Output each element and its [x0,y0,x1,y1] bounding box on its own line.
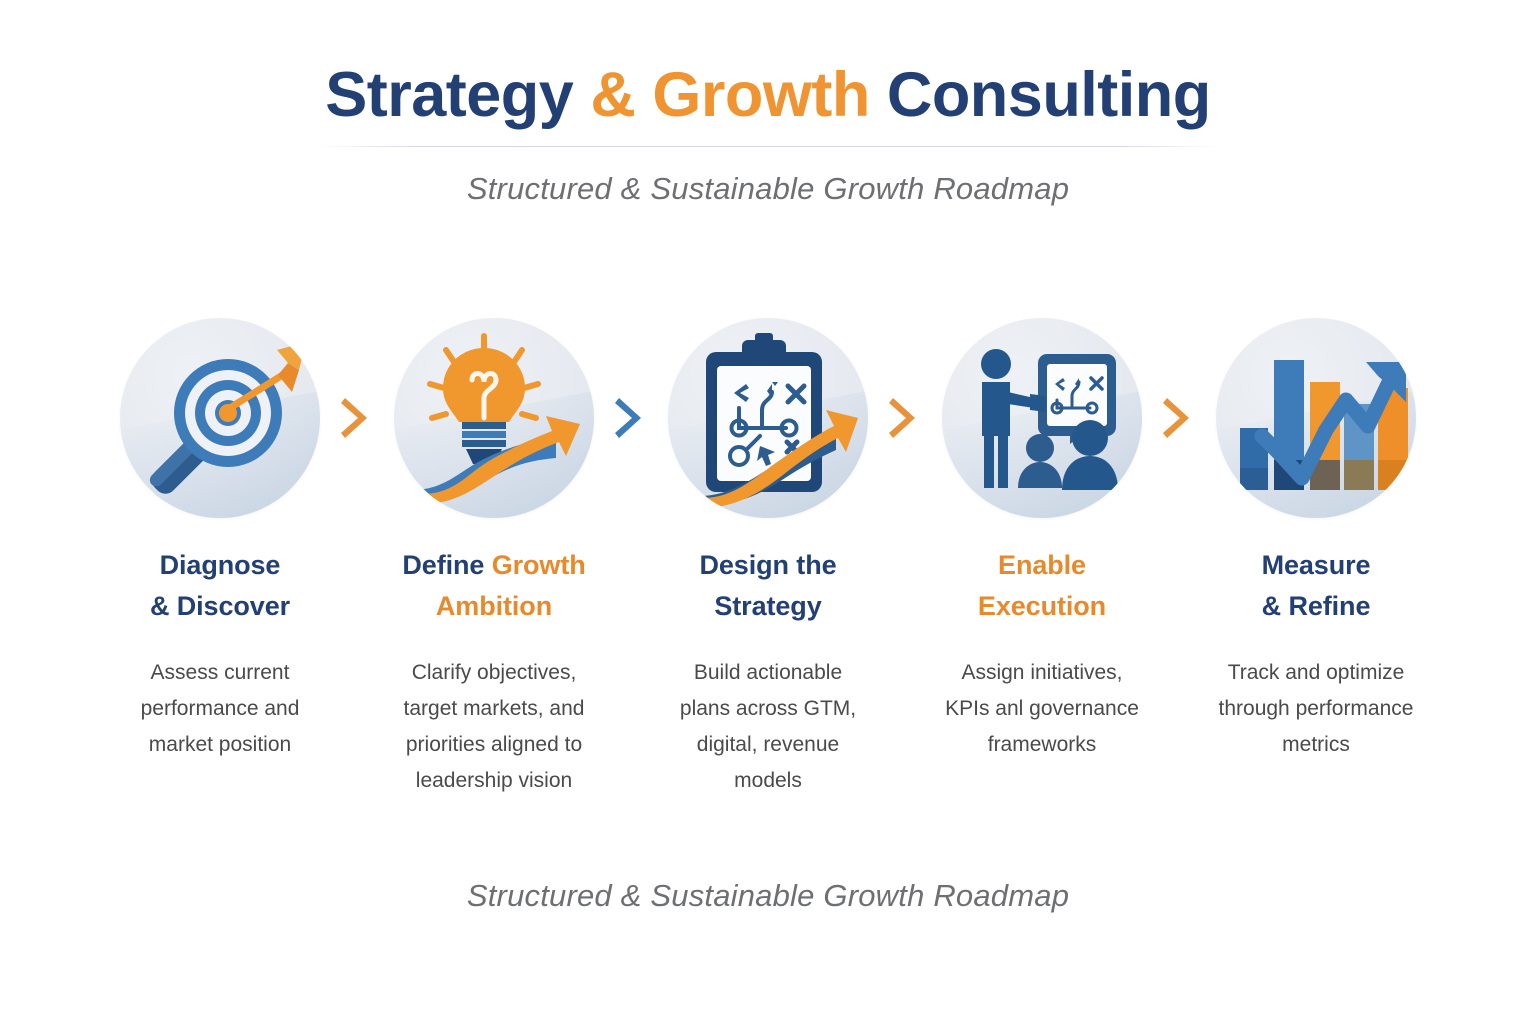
step-5-title-line1-navy: Measure [1262,550,1371,580]
page-title: Strategy & Growth Consulting [0,62,1536,128]
page-header: Strategy & Growth Consulting Structured … [0,0,1536,207]
target-magnifier-icon [120,318,320,518]
roadmap-steps: Diagnose & Discover Assess current perfo… [0,318,1536,800]
page-title-part1: Strategy [325,60,590,130]
step-5-title: Measure & Refine [1216,545,1416,627]
clipboard-strategy-icon [668,318,868,518]
step-3-title: Design the Strategy [668,545,868,627]
step-5-icon-circle [1216,318,1416,518]
step-1-icon-circle [120,318,320,518]
step-1-title-line1-navy: Diagnose [160,550,281,580]
step-4-title: Enable Execution [942,545,1142,627]
page-subtitle: Structured & Sustainable Growth Roadmap [0,171,1536,207]
title-divider [318,146,1218,147]
step-enable-execution[interactable]: Enable Execution Assign initiatives, KPI… [942,318,1142,763]
step-2-title-line1-navy: Define [402,550,491,580]
step-3-title-line2-navy: Strategy [714,591,821,621]
step-4-description: Assign initiatives, KPIs anl governance … [942,655,1142,763]
lightbulb-growth-arrow-icon [394,318,594,518]
step-3-description: Build actionable plans across GTM, digit… [668,655,868,799]
step-3-title-line1-navy: Design the [699,550,836,580]
step-2-description: Clarify objectives, target markets, and … [394,655,594,799]
step-1-description: Assess current performance and market po… [120,655,320,763]
chevron-right-icon [614,395,648,441]
step-2-title-line1-orange: Growth [492,550,586,580]
page-title-part3: Consulting [870,60,1211,130]
step-4-icon-circle [942,318,1142,518]
connector-3 [868,318,942,518]
step-5-description: Track and optimize through performance m… [1216,655,1416,763]
step-4-title-line2-orange: Execution [978,591,1106,621]
chevron-right-icon [888,395,922,441]
connector-1 [320,318,394,518]
footer-caption: Structured & Sustainable Growth Roadmap [0,878,1536,914]
step-2-icon-circle [394,318,594,518]
step-1-title: Diagnose & Discover [120,545,320,627]
step-2-title: Define Growth Ambition [394,545,594,627]
page-title-part2: & Growth [590,60,869,130]
presentation-team-icon [942,318,1142,518]
step-measure-refine[interactable]: Measure & Refine Track and optimize thro… [1216,318,1416,763]
step-3-icon-circle [668,318,868,518]
step-1-title-line2-navy: & Discover [150,591,290,621]
connector-2 [594,318,668,518]
step-2-title-line2-orange: Ambition [436,591,552,621]
step-diagnose-discover[interactable]: Diagnose & Discover Assess current perfo… [120,318,320,763]
chevron-right-icon [1162,395,1196,441]
step-design-the-strategy[interactable]: Design the Strategy Build actionable pla… [668,318,868,800]
step-5-title-line2-navy: & Refine [1262,591,1371,621]
step-define-growth-ambition[interactable]: Define Growth Ambition Clarify objective… [394,318,594,800]
step-4-title-line1-orange: Enable [998,550,1086,580]
bar-chart-growth-icon [1216,318,1416,518]
connector-4 [1142,318,1216,518]
chevron-right-icon [340,395,374,441]
